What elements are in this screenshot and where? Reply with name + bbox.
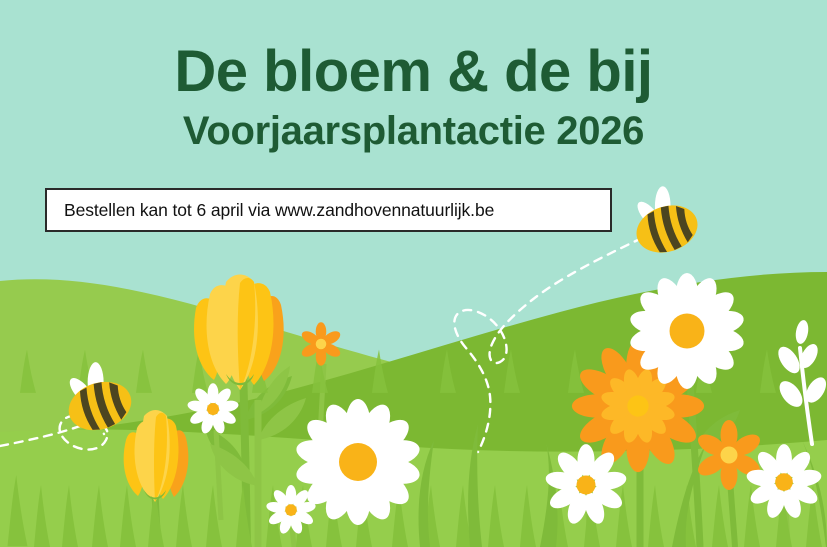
order-info-banner: Bestellen kan tot 6 april via www.zandho… xyxy=(45,188,612,232)
order-info-text: Bestellen kan tot 6 april via www.zandho… xyxy=(47,200,494,221)
poster-canvas: De bloem & de bij Voorjaarsplantactie 20… xyxy=(0,0,827,547)
spring-illustration xyxy=(0,0,827,547)
